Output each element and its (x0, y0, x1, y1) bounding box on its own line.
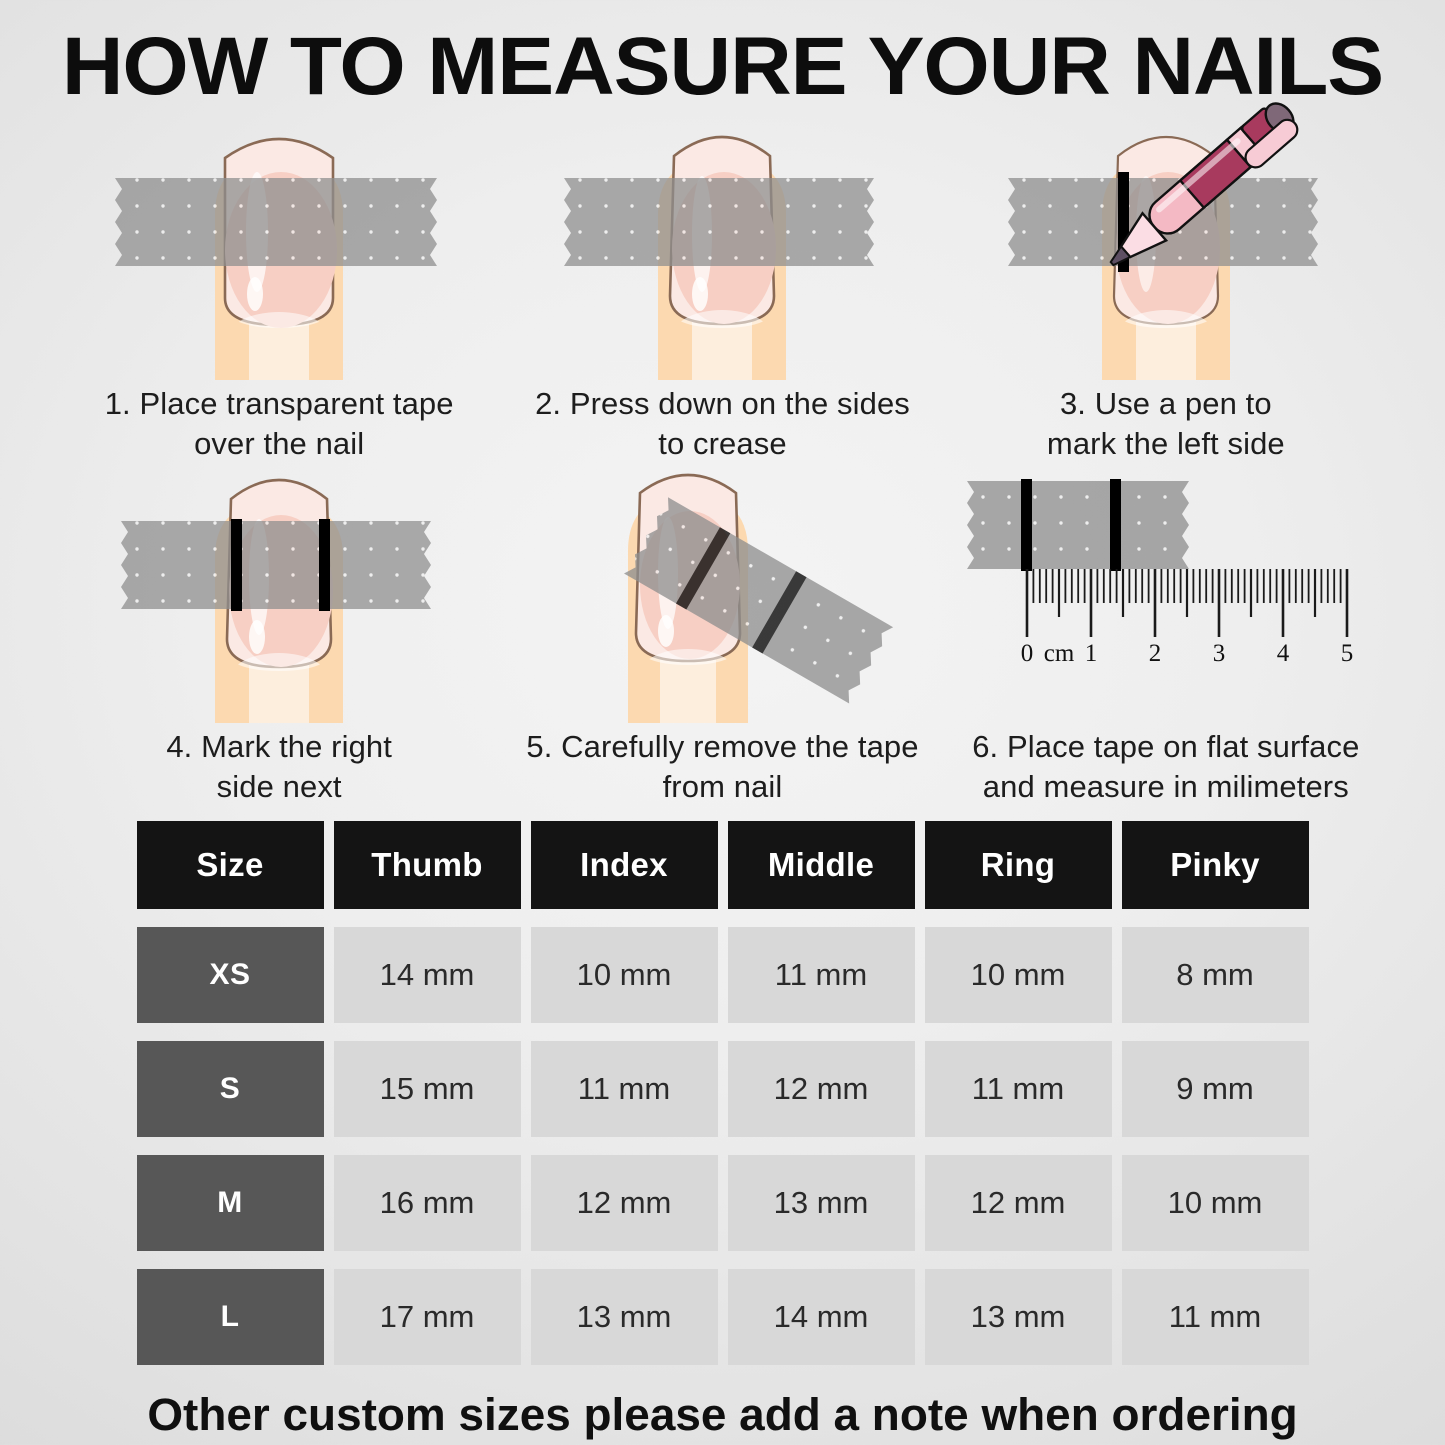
step-5-illustration (501, 465, 944, 723)
size-table: Size Thumb Index Middle Ring Pinky XS 14… (137, 821, 1309, 1365)
table-cell: 17 mm (334, 1269, 521, 1365)
table-cell: 11 mm (728, 927, 915, 1023)
page-title: HOW TO MEASURE YOUR NAILS (0, 0, 1445, 108)
table-cell: 9 mm (1122, 1041, 1309, 1137)
table-row-label: XS (137, 927, 324, 1023)
table-header-pinky: Pinky (1122, 821, 1309, 909)
ruler-label-5: 5 (1341, 640, 1354, 667)
ruler-ticks (1027, 569, 1347, 637)
step-3: 3. Use a pen to mark the left side (944, 122, 1387, 465)
step-1-caption: 1. Place transparent tape over the nail (105, 384, 454, 465)
steps-grid: 1. Place transparent tape over the nail (58, 122, 1388, 807)
table-row-label: L (137, 1269, 324, 1365)
left-mark (1021, 479, 1032, 571)
step-4-illustration (58, 465, 501, 723)
table-cell: 12 mm (728, 1041, 915, 1137)
step-2: 2. Press down on the sides to crease (501, 122, 944, 465)
table-cell: 14 mm (728, 1269, 915, 1365)
ruler-label-3: 3 (1213, 640, 1226, 667)
right-mark (319, 519, 330, 611)
table-cell: 13 mm (925, 1269, 1112, 1365)
table-header-thumb: Thumb (334, 821, 521, 909)
table-cell: 11 mm (531, 1041, 718, 1137)
table-cell: 15 mm (334, 1041, 521, 1137)
right-mark (1110, 479, 1121, 571)
left-mark (231, 519, 242, 611)
table-cell: 12 mm (925, 1155, 1112, 1251)
step-5-caption: 5. Carefully remove the tape from nail (526, 727, 918, 808)
step-6-illustration: 0 cm 1 2 3 4 5 (944, 465, 1387, 723)
step-1-illustration (58, 122, 501, 380)
table-row-label: M (137, 1155, 324, 1251)
table-header-size: Size (137, 821, 324, 909)
ruler-label-0: 0 (1021, 640, 1034, 667)
ruler-label-1: 1 (1085, 640, 1098, 667)
step-4-caption: 4. Mark the right side next (166, 727, 392, 808)
table-cell: 10 mm (925, 927, 1112, 1023)
table-cell: 11 mm (1122, 1269, 1309, 1365)
step-3-illustration (944, 122, 1387, 380)
step-2-caption: 2. Press down on the sides to crease (535, 384, 910, 465)
footer-note: Other custom sizes please add a note whe… (0, 1389, 1445, 1441)
table-header-index: Index (531, 821, 718, 909)
step-2-illustration (501, 122, 944, 380)
table-cell: 8 mm (1122, 927, 1309, 1023)
step-3-caption: 3. Use a pen to mark the left side (1047, 384, 1285, 465)
table-cell: 16 mm (334, 1155, 521, 1251)
table-cell: 11 mm (925, 1041, 1112, 1137)
table-cell: 13 mm (728, 1155, 915, 1251)
table-cell: 13 mm (531, 1269, 718, 1365)
ruler-label-2: 2 (1149, 640, 1162, 667)
step-6: 0 cm 1 2 3 4 5 6. Place tape on flat sur… (944, 465, 1387, 808)
step-6-caption: 6. Place tape on flat surface and measur… (972, 727, 1359, 808)
ruler-label-4: 4 (1277, 640, 1290, 667)
step-4: 4. Mark the right side next (58, 465, 501, 808)
table-cell: 10 mm (531, 927, 718, 1023)
table-header-ring: Ring (925, 821, 1112, 909)
table-cell: 14 mm (334, 927, 521, 1023)
table-cell: 12 mm (531, 1155, 718, 1251)
step-1: 1. Place transparent tape over the nail (58, 122, 501, 465)
table-header-middle: Middle (728, 821, 915, 909)
table-row-label: S (137, 1041, 324, 1137)
table-cell: 10 mm (1122, 1155, 1309, 1251)
step-5: 5. Carefully remove the tape from nail (501, 465, 944, 808)
ruler-unit: cm (1044, 640, 1075, 667)
